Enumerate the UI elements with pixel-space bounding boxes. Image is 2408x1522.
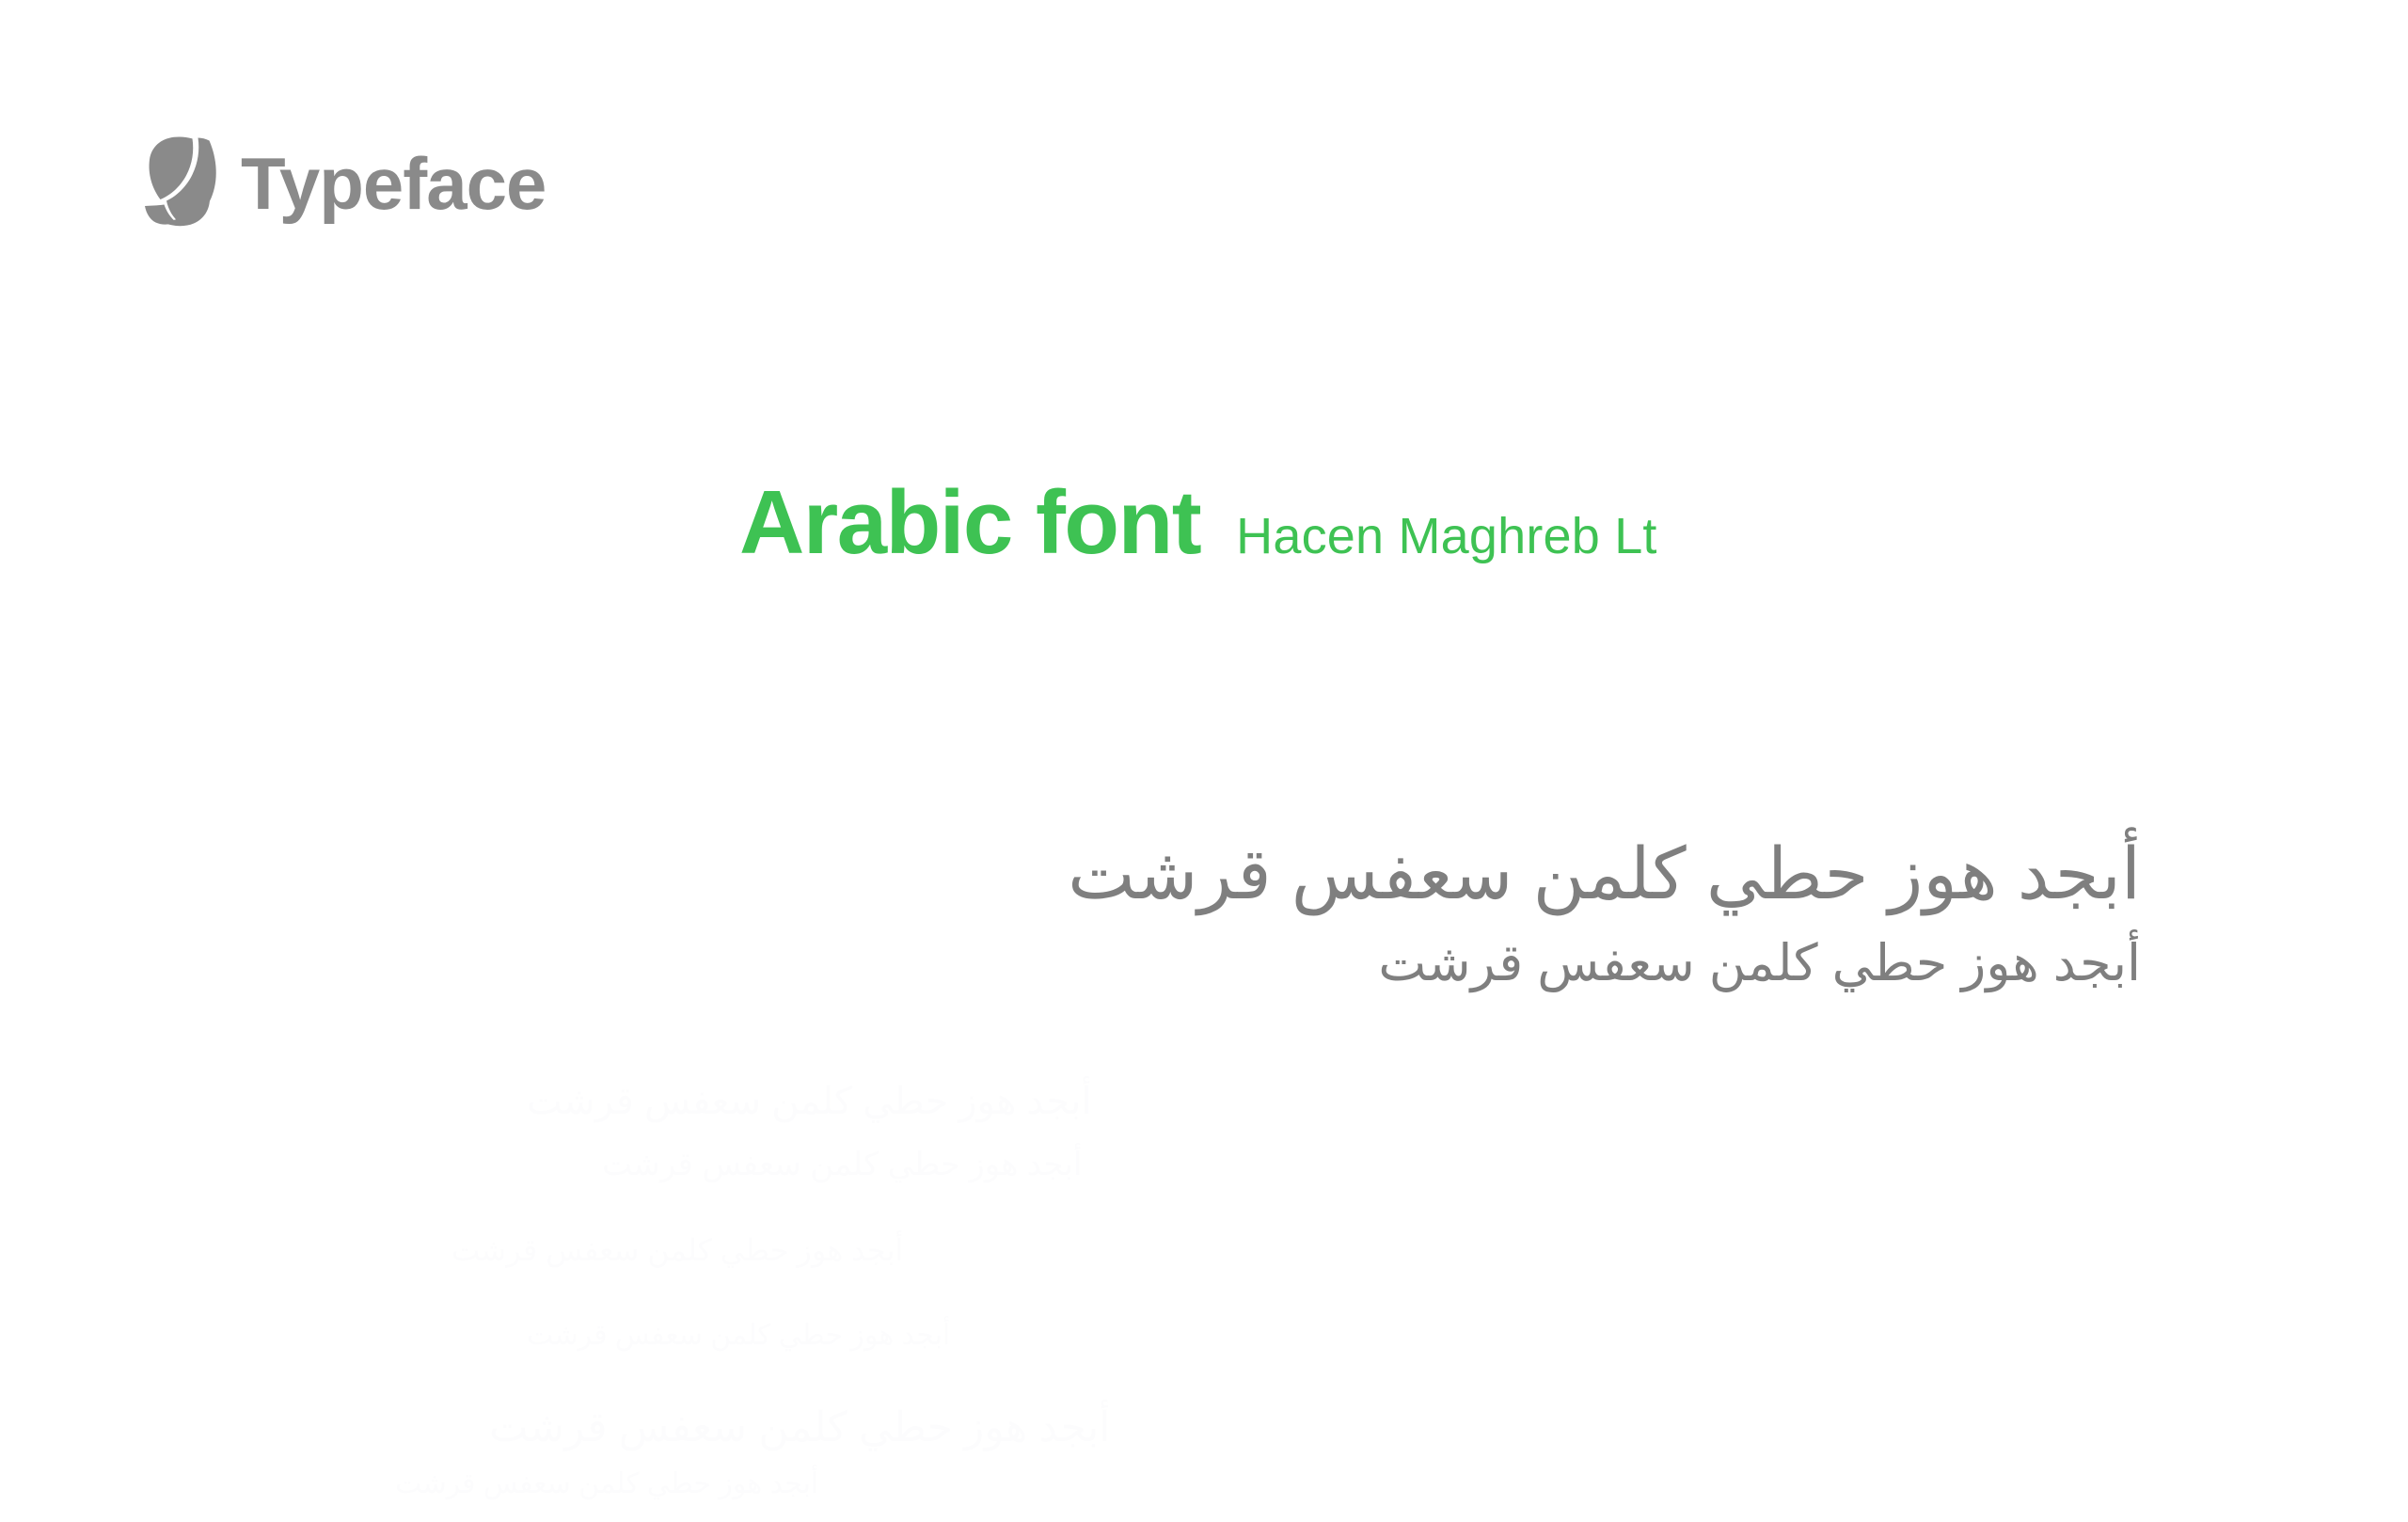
ghost-artifact-line: أبجد هوز حطي كلمن سعفس قرشت xyxy=(489,1403,1111,1451)
arabic-specimen-block: أبجد هوز حطي كلمن سعفس قرشت أبجد هوز حطي… xyxy=(1068,828,2141,1000)
font-name-label: Hacen Maghreb Lt xyxy=(1236,511,1656,562)
ghost-artifact-layer: أبجد هوز حطي كلمن سعفس قرشت أبجد هوز حطي… xyxy=(0,0,2408,1522)
ghost-artifact-line: أبجد هوز حطي كلمن سعفس قرشت xyxy=(451,1232,903,1268)
specimen-line-large: أبجد هوز حطي كلمن سعفس قرشت xyxy=(1068,828,2141,922)
ghost-artifact-line: أبجد هوز حطي كلمن سعفس قرشت xyxy=(395,1467,818,1500)
specimen-page: Typeface Arabic font Hacen Maghreb Lt أب… xyxy=(0,0,2408,1522)
brand-wordmark: Typeface xyxy=(241,147,546,220)
page-title: Arabic font xyxy=(739,478,1200,568)
title-row: Arabic font Hacen Maghreb Lt xyxy=(739,478,1657,568)
ghost-artifact-line: أبجد هوز حطي كلمن سعفس قرشت xyxy=(602,1146,1082,1183)
ghost-artifact-line: أبجد هوز حطي كلمن سعفس قرشت xyxy=(527,1319,950,1352)
typeface-leaf-logo-icon xyxy=(143,136,220,227)
specimen-line-small: أبجد هوز حطي كلمن سعفس قرشت xyxy=(1068,927,2141,1000)
brand-lockup: Typeface xyxy=(143,136,546,227)
ghost-artifact-line: أبجد هوز حطي كلمن سعفس قرشت xyxy=(527,1080,1091,1123)
